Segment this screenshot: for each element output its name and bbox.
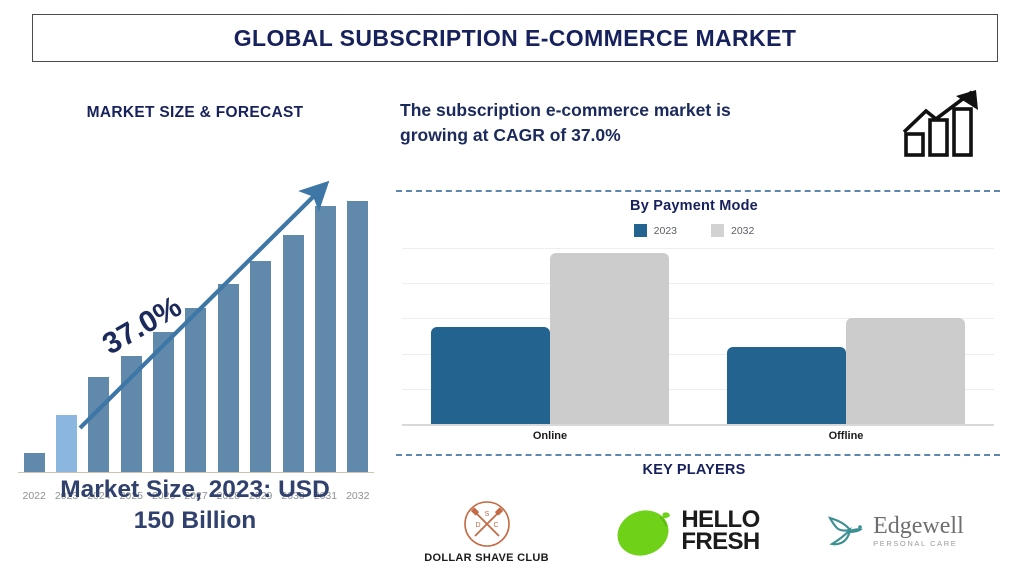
dollar-shave-club-logo-icon: S D C bbox=[462, 499, 512, 549]
hellofresh-line-2: FRESH bbox=[681, 531, 759, 553]
forecast-bar-slot bbox=[309, 187, 341, 472]
bar-chart-growth-icon bbox=[902, 88, 986, 158]
cagr-statement-line-1: The subscription e-commerce market is bbox=[400, 98, 870, 123]
forecast-bar-slot bbox=[18, 187, 50, 472]
payment-chart-axis bbox=[402, 424, 994, 426]
forecast-bar bbox=[185, 308, 206, 472]
forecast-bar-slot bbox=[50, 187, 82, 472]
key-players-title: KEY PLAYERS bbox=[392, 462, 996, 478]
forecast-bar bbox=[347, 201, 368, 472]
payment-bar-group bbox=[698, 248, 994, 424]
forecast-axis-line bbox=[18, 472, 374, 474]
payment-bar-online-2032 bbox=[550, 253, 669, 424]
legend-swatch-icon bbox=[711, 224, 724, 237]
forecast-bar bbox=[283, 235, 304, 473]
forecast-bar-slot bbox=[342, 187, 374, 472]
forecast-bar-slot bbox=[277, 187, 309, 472]
payment-category-label: Online bbox=[402, 430, 698, 442]
cagr-statement-line-2: growing at CAGR of 37.0% bbox=[400, 123, 870, 148]
market-size-forecast-heading: MARKET SIZE & FORECAST bbox=[0, 104, 390, 122]
payment-mode-title: By Payment Mode bbox=[392, 198, 996, 214]
forecast-bar bbox=[315, 206, 336, 472]
divider-top bbox=[396, 190, 1000, 192]
payment-mode-legend: 20232032 bbox=[392, 224, 996, 237]
edgewell-hummingbird-icon bbox=[824, 508, 870, 554]
header-box: GLOBAL SUBSCRIPTION E-COMMERCE MARKET bbox=[32, 14, 998, 62]
payment-category-label: Offline bbox=[698, 430, 994, 442]
forecast-bar-slot bbox=[180, 187, 212, 472]
market-size-forecast-panel: MARKET SIZE & FORECAST 20222023202420252… bbox=[0, 70, 390, 576]
svg-text:C: C bbox=[493, 522, 498, 529]
legend-item-2023[interactable]: 2023 bbox=[634, 224, 677, 237]
legend-label: 2023 bbox=[654, 225, 677, 237]
market-size-value: Market Size, 2023: USD 150 Billion bbox=[8, 474, 382, 537]
player-dollar-shave-club: S D C DOLLAR SHAVE CLUB bbox=[424, 499, 549, 564]
payment-bar-offline-2023 bbox=[727, 347, 846, 424]
cagr-statement: The subscription e-commerce market is gr… bbox=[400, 98, 870, 148]
player-label-dollar-shave-club: DOLLAR SHAVE CLUB bbox=[424, 552, 549, 564]
forecast-bar bbox=[250, 261, 271, 472]
market-size-line-1: Market Size, 2023: USD bbox=[8, 474, 382, 505]
divider-bottom bbox=[396, 454, 1000, 456]
legend-swatch-icon bbox=[634, 224, 647, 237]
svg-text:D: D bbox=[475, 522, 480, 529]
payment-bar-online-2023 bbox=[431, 327, 550, 424]
forecast-bar-slot bbox=[212, 187, 244, 472]
payment-bar-offline-2032 bbox=[846, 318, 965, 424]
svg-text:S: S bbox=[484, 511, 489, 518]
infographic-page: GLOBAL SUBSCRIPTION E-COMMERCE MARKET MA… bbox=[0, 0, 1024, 576]
legend-label: 2032 bbox=[731, 225, 754, 237]
forecast-bars bbox=[18, 187, 374, 472]
hellofresh-wordmark: HELLO FRESH bbox=[681, 509, 759, 553]
payment-mode-bars bbox=[402, 248, 994, 424]
key-players-list: S D C DOLLAR SHAVE CLUB HELLO bbox=[392, 488, 996, 574]
market-size-line-2: 150 Billion bbox=[8, 505, 382, 536]
edgewell-tagline: PERSONAL CARE bbox=[873, 539, 957, 548]
player-edgewell: Edgewell PERSONAL CARE bbox=[824, 508, 964, 554]
right-panel: The subscription e-commerce market is gr… bbox=[392, 70, 1024, 576]
edgewell-wordmark: Edgewell bbox=[873, 514, 964, 538]
player-hellofresh: HELLO FRESH bbox=[613, 500, 759, 562]
payment-category-labels: OnlineOffline bbox=[402, 430, 994, 442]
payment-bar-group bbox=[402, 248, 698, 424]
forecast-bar bbox=[153, 332, 174, 472]
forecast-bar bbox=[218, 284, 239, 472]
forecast-bar bbox=[88, 377, 109, 472]
hellofresh-lemon-icon bbox=[613, 500, 675, 562]
forecast-bar bbox=[24, 453, 45, 472]
forecast-bar-slot bbox=[245, 187, 277, 472]
page-title: GLOBAL SUBSCRIPTION E-COMMERCE MARKET bbox=[234, 25, 797, 52]
legend-item-2032[interactable]: 2032 bbox=[711, 224, 754, 237]
forecast-bar bbox=[121, 356, 142, 472]
forecast-bar bbox=[56, 415, 77, 472]
payment-mode-chart bbox=[402, 248, 994, 424]
